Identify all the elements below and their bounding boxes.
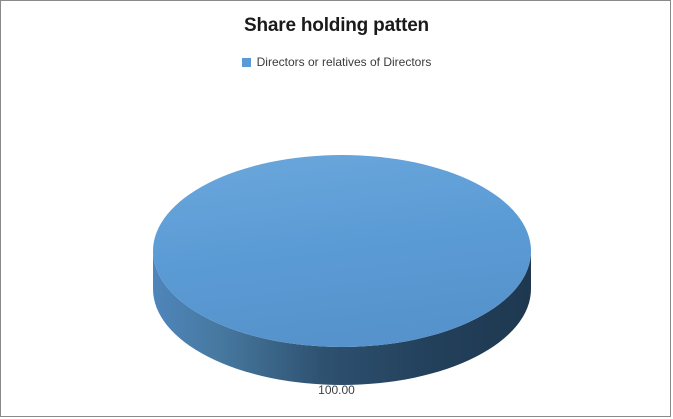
chart-container: Share holding patten Directors or relati… (0, 0, 671, 417)
pie-data-label: 100.00 (1, 383, 671, 398)
pie-chart-3d[interactable] (151, 155, 533, 387)
pie-plot-area: 100.00 (1, 1, 671, 417)
pie-slice-directors[interactable] (153, 155, 531, 347)
